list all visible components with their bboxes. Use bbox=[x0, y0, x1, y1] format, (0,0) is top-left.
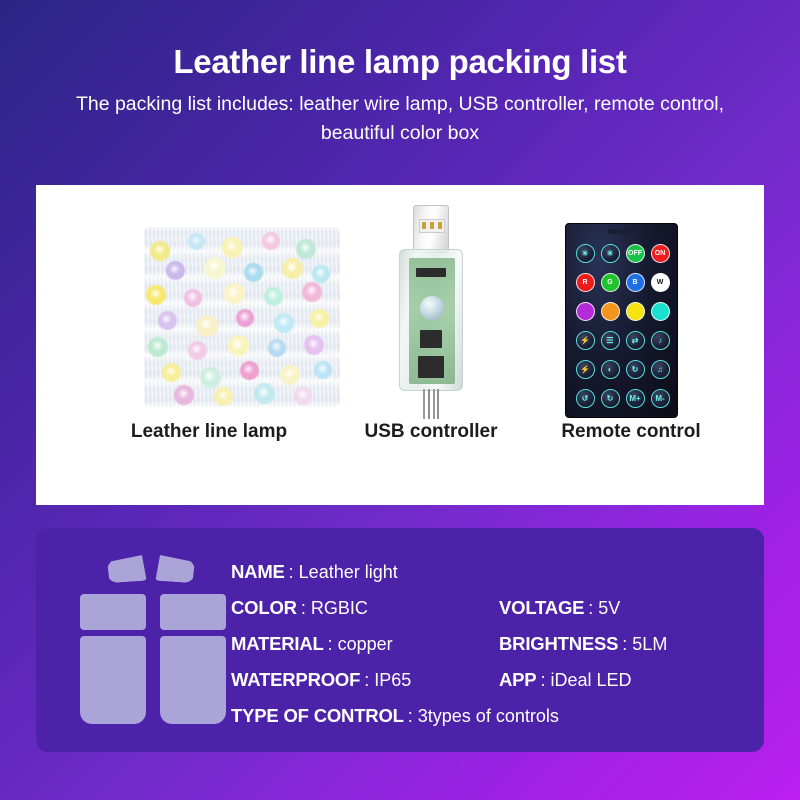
header: Leather line lamp packing list The packi… bbox=[0, 44, 800, 147]
gift-lid-left bbox=[80, 594, 146, 630]
spec-value: : iDeal LED bbox=[540, 670, 631, 691]
lamp-led-bulb bbox=[264, 287, 283, 306]
lamp-led-bulb bbox=[214, 387, 233, 406]
smooth-icon[interactable]: ↻ bbox=[626, 360, 645, 379]
specification-panel: NAME : Leather light COLOR : RGBIC VOLTA… bbox=[36, 528, 764, 752]
lamp-led-bulb bbox=[166, 261, 185, 280]
remote-button-grid: ☀☀OFFONRGBW⚡☰⇄♪⚡◐↻♫↺↻M+M- bbox=[573, 240, 672, 412]
spec-row: COLOR : RGBIC VOLTAGE : 5V bbox=[231, 590, 751, 626]
color-white-icon[interactable]: W bbox=[651, 273, 670, 292]
spec-value: : 3types of controls bbox=[408, 706, 559, 727]
lamp-led-bulb bbox=[310, 309, 329, 328]
spec-entry-material: MATERIAL : copper bbox=[231, 633, 393, 655]
spec-key: VOLTAGE bbox=[499, 597, 584, 619]
lamp-led-bulb bbox=[240, 361, 259, 380]
lamp-led-bulb bbox=[222, 237, 243, 258]
usb-chip-2 bbox=[420, 330, 442, 348]
spec-key: COLOR bbox=[231, 597, 297, 619]
brightness-up-icon[interactable]: ☀ bbox=[601, 244, 620, 263]
lamp-led-bulb bbox=[162, 363, 181, 382]
spec-key: NAME bbox=[231, 561, 285, 583]
flash-icon[interactable]: ⚡ bbox=[576, 331, 595, 350]
usb-lens bbox=[420, 296, 444, 320]
led-string-lamp-image bbox=[144, 227, 340, 407]
usb-plug-icon bbox=[413, 205, 449, 253]
lamp-led-bulb bbox=[304, 335, 324, 355]
lamp-led-bulb bbox=[224, 283, 245, 304]
lamp-led-bulb bbox=[294, 387, 312, 405]
spec-key: WATERPROOF bbox=[231, 669, 360, 691]
spec-entry-name: NAME : Leather light bbox=[231, 561, 398, 583]
lamp-led-bulb bbox=[274, 313, 294, 333]
spec-entry-waterproof: WATERPROOF : IP65 bbox=[231, 669, 411, 691]
mode-plus-icon[interactable]: M+ bbox=[626, 389, 645, 408]
spec-value: : RGBIC bbox=[301, 598, 368, 619]
page-title: Leather line lamp packing list bbox=[0, 44, 800, 80]
spec-entry-brightness: BRIGHTNESS : 5LM bbox=[499, 633, 667, 655]
color-blue-icon[interactable]: B bbox=[626, 273, 645, 292]
lamp-led-bulb bbox=[236, 309, 254, 327]
lamp-led-bulb bbox=[280, 365, 300, 385]
music-mode-1-icon[interactable]: ♪ bbox=[651, 331, 670, 350]
palette-icon[interactable]: ◐ bbox=[601, 360, 620, 379]
lamp-led-bulb bbox=[296, 239, 316, 259]
gift-box-icon bbox=[74, 550, 234, 728]
gift-lid-right bbox=[160, 594, 226, 630]
usb-output-wires bbox=[423, 389, 439, 419]
color-cyan-icon[interactable] bbox=[651, 302, 670, 321]
brightness-down-icon[interactable]: ☀ bbox=[576, 244, 595, 263]
power-off-icon[interactable]: OFF bbox=[626, 244, 645, 263]
lamp-led-bulb bbox=[148, 337, 168, 357]
spec-row: TYPE OF CONTROL : 3types of controls bbox=[231, 698, 751, 734]
lamp-led-bulb bbox=[254, 383, 275, 404]
speed-down-icon[interactable]: ↻ bbox=[601, 389, 620, 408]
usb-housing bbox=[399, 249, 463, 391]
usb-chip-1 bbox=[416, 268, 446, 277]
gift-bow-left bbox=[106, 555, 147, 584]
remote-body: ☀☀OFFONRGBW⚡☰⇄♪⚡◐↻♫↺↻M+M- bbox=[565, 223, 678, 418]
lamp-led-bulb bbox=[174, 385, 194, 405]
product-card: Leather line lamp USB controller bbox=[36, 185, 764, 505]
lamp-led-bulb bbox=[282, 258, 303, 279]
gift-bow-right bbox=[154, 555, 195, 584]
specification-list: NAME : Leather light COLOR : RGBIC VOLTA… bbox=[231, 552, 751, 732]
lamp-led-bulb bbox=[314, 361, 332, 379]
color-purple-icon[interactable] bbox=[576, 302, 595, 321]
spec-value: : 5LM bbox=[622, 634, 667, 655]
product-item-remote-control: ☀☀OFFONRGBW⚡☰⇄♪⚡◐↻♫↺↻M+M- Remote control bbox=[516, 185, 746, 505]
lamp-led-bulb bbox=[200, 367, 221, 388]
power-on-icon[interactable]: ON bbox=[651, 244, 670, 263]
spec-entry-type-of-control: TYPE OF CONTROL : 3types of controls bbox=[231, 705, 559, 727]
usb-chip-3 bbox=[418, 356, 444, 378]
lamp-led-bulb bbox=[302, 282, 322, 302]
spec-key: APP bbox=[499, 669, 536, 691]
lamp-led-bulb bbox=[204, 257, 226, 279]
lamp-led-bulb bbox=[244, 263, 263, 282]
fade-icon[interactable]: ⇄ bbox=[626, 331, 645, 350]
spec-key: MATERIAL bbox=[231, 633, 324, 655]
music-mode-2-icon[interactable]: ♫ bbox=[651, 360, 670, 379]
speed-up-icon[interactable]: ↺ bbox=[576, 389, 595, 408]
spec-entry-color: COLOR : RGBIC bbox=[231, 597, 368, 619]
gift-body-right bbox=[160, 636, 226, 724]
product-caption: Leather line lamp bbox=[84, 421, 334, 443]
spec-value: : IP65 bbox=[364, 670, 411, 691]
product-infographic-page: Leather line lamp packing list The packi… bbox=[0, 0, 800, 800]
lamp-led-bulb bbox=[268, 339, 286, 357]
lamp-led-bulb bbox=[158, 311, 177, 330]
product-item-leather-line-lamp: Leather line lamp bbox=[84, 185, 334, 505]
product-caption: USB controller bbox=[336, 421, 526, 443]
lamp-led-bulb bbox=[150, 241, 170, 261]
lamp-led-bulb bbox=[312, 265, 330, 283]
spec-row: MATERIAL : copper BRIGHTNESS : 5LM bbox=[231, 626, 751, 662]
color-orange-icon[interactable] bbox=[601, 302, 620, 321]
lamp-led-bulb bbox=[228, 335, 249, 356]
spec-key: BRIGHTNESS bbox=[499, 633, 618, 655]
remote-ir-window bbox=[608, 229, 636, 234]
ir-remote-control-image: ☀☀OFFONRGBW⚡☰⇄♪⚡◐↻♫↺↻M+M- bbox=[565, 223, 678, 418]
spec-row: WATERPROOF : IP65 APP : iDeal LED bbox=[231, 662, 751, 698]
color-red-icon[interactable]: R bbox=[576, 273, 595, 292]
product-row: Leather line lamp USB controller bbox=[36, 185, 764, 505]
product-caption: Remote control bbox=[516, 421, 746, 443]
usb-controller-image bbox=[399, 205, 463, 419]
spec-key: TYPE OF CONTROL bbox=[231, 705, 404, 727]
lamp-led-bulb bbox=[184, 289, 202, 307]
lamp-led-bulb bbox=[188, 233, 205, 250]
spec-value: : copper bbox=[328, 634, 393, 655]
lamp-led-bulb bbox=[188, 341, 207, 360]
product-item-usb-controller: USB controller bbox=[336, 185, 526, 505]
spec-value: : Leather light bbox=[289, 562, 398, 583]
color-green-icon[interactable]: G bbox=[601, 273, 620, 292]
spec-value: : 5V bbox=[588, 598, 620, 619]
flash-2-icon[interactable]: ⚡ bbox=[576, 360, 595, 379]
spec-entry-app: APP : iDeal LED bbox=[499, 669, 632, 691]
spec-row: NAME : Leather light bbox=[231, 554, 751, 590]
spec-entry-voltage: VOLTAGE : 5V bbox=[499, 597, 620, 619]
lamp-led-bulb bbox=[146, 285, 166, 305]
strobe-icon[interactable]: ☰ bbox=[601, 331, 620, 350]
color-yellow-icon[interactable] bbox=[626, 302, 645, 321]
mode-minus-icon[interactable]: M- bbox=[651, 389, 670, 408]
lamp-led-bulb bbox=[262, 232, 280, 250]
page-subtitle: The packing list includes: leather wire … bbox=[70, 90, 730, 147]
lamp-led-bulb bbox=[196, 315, 218, 337]
gift-body-left bbox=[80, 636, 146, 724]
